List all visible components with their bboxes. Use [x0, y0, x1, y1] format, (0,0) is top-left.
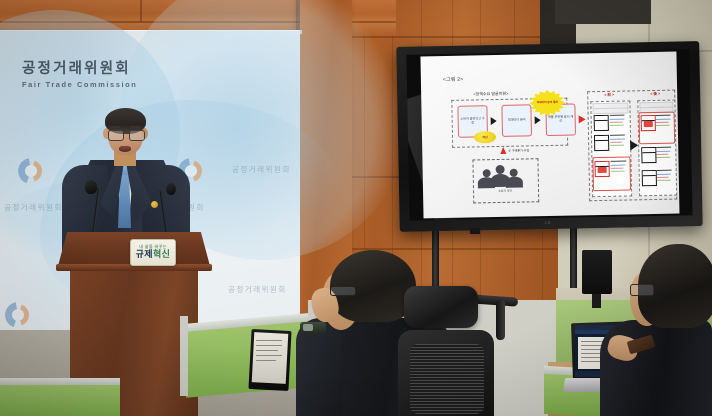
glasses-icon [630, 284, 654, 296]
glasses-icon [330, 286, 356, 296]
before-panel-header: < 前 > [589, 92, 629, 98]
before-panel-subbar [592, 107, 628, 114]
chair-mesh-back [410, 344, 484, 414]
speaker-brow-left [110, 126, 121, 128]
backdrop-watermark: 공정거래위원회 [228, 284, 287, 295]
monitor-rear [582, 250, 612, 294]
monitor-stand [592, 294, 601, 308]
tv-brand-mark: LG [545, 220, 552, 225]
speaker-mouth [119, 146, 131, 152]
desk-frame-left [180, 316, 188, 396]
product-thumb-highlighted [594, 161, 609, 177]
backdrop-watermark: 공정거래위원회 [232, 164, 291, 175]
chair-armrest-post [496, 300, 505, 340]
podium-sign-regulation: 규제 [136, 249, 153, 259]
podium-sign-innovation: 혁신 [153, 249, 170, 259]
taegeuk-logo-icon [18, 158, 44, 184]
product-thumb [594, 115, 609, 131]
podium-sign-line2: 규제혁신 [136, 250, 171, 259]
microphone-icon [166, 183, 176, 195]
glasses-bridge [123, 133, 129, 134]
television: <그림 2> <정책수요 발굴지원> 소비자 불만신고 수집 빅데이터 분석 제… [396, 41, 702, 232]
microphone-icon [85, 180, 97, 194]
backdrop-title-korean: 공정거래위원회 [22, 62, 182, 78]
before-to-after-arrow-icon [630, 140, 638, 150]
tv-stand-base [470, 228, 480, 234]
ceiling-shadow [555, 0, 651, 24]
product-thumb [594, 135, 609, 151]
transition-arrow-icon [579, 115, 586, 123]
backdrop-title: 공정거래위원회 Fair Trade Commission [22, 62, 182, 89]
backdrop-watermark: 공정거래위원회 [4, 202, 63, 213]
slide-surface: <그림 2> <정책수요 발굴지원> 소비자 불만신고 수집 빅데이터 분석 제… [420, 52, 679, 219]
tv-screen: <그림 2> <정책수요 발굴지원> 소비자 불만신고 수집 빅데이터 분석 제… [406, 49, 692, 220]
taegeuk-logo-icon [5, 302, 31, 328]
desk-partition-foreground [0, 385, 120, 416]
product-thumb [641, 147, 656, 163]
product-thumb [642, 170, 657, 186]
lapel-pin-icon [151, 201, 158, 208]
after-panel-header: < 後 > [637, 92, 673, 98]
backdrop-title-english: Fair Trade Commission [22, 80, 182, 89]
chair-headrest [404, 286, 478, 328]
podium-sign: 내 삶을 바꾸는 규제혁신 [130, 239, 176, 266]
product-thumb-highlighted [641, 115, 656, 131]
glasses-icon [108, 130, 124, 141]
speaker-brow-right [130, 126, 141, 128]
glasses-icon [129, 130, 145, 141]
wrist-watch-face [303, 324, 313, 331]
press-briefing-photo: 공정거래위원회 Fair Trade Commission 공정거래위원회 공정… [0, 0, 712, 416]
